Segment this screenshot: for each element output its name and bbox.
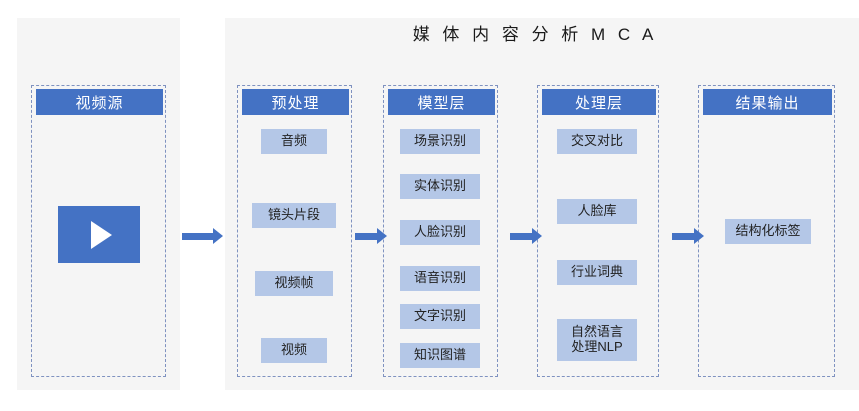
- diagram-canvas: 媒 体 内 容 分 析 M C A 视频源 预处理 音频 镜头片段 视频帧 视频…: [0, 0, 859, 411]
- node-processing-nlp[interactable]: 自然语言 处理NLP: [557, 319, 637, 361]
- node-preprocessing-audio[interactable]: 音频: [261, 129, 327, 154]
- arrow-source-to-preprocessing: [182, 228, 223, 244]
- column-header-model-layer: 模型层: [388, 89, 495, 115]
- arrow-shaft: [510, 233, 532, 240]
- column-video-source: 视频源: [31, 85, 166, 377]
- node-preprocessing-video-frame[interactable]: 视频帧: [255, 271, 333, 296]
- node-model-face-recognition[interactable]: 人脸识别: [400, 220, 480, 245]
- node-processing-cross-comparison[interactable]: 交叉对比: [557, 129, 637, 154]
- column-header-video-source: 视频源: [36, 89, 163, 115]
- arrow-head: [532, 228, 542, 244]
- node-processing-face-database[interactable]: 人脸库: [557, 199, 637, 224]
- column-header-preprocessing: 预处理: [242, 89, 349, 115]
- arrow-head: [213, 228, 223, 244]
- node-model-scene-recognition[interactable]: 场景识别: [400, 129, 480, 154]
- arrow-shaft: [355, 233, 377, 240]
- node-model-speech-recognition[interactable]: 语音识别: [400, 266, 480, 291]
- node-result-structured-tags[interactable]: 结构化标签: [725, 219, 811, 244]
- column-model-layer: 模型层 场景识别 实体识别 人脸识别 语音识别 文字识别 知识图谱: [383, 85, 498, 377]
- arrow-shaft: [672, 233, 694, 240]
- node-model-text-recognition[interactable]: 文字识别: [400, 304, 480, 329]
- node-model-knowledge-graph[interactable]: 知识图谱: [400, 343, 480, 368]
- column-header-processing-layer: 处理层: [542, 89, 656, 115]
- arrow-processing-to-result: [672, 228, 704, 244]
- column-processing-layer: 处理层 交叉对比 人脸库 行业词典 自然语言 处理NLP: [537, 85, 659, 377]
- arrow-head: [694, 228, 704, 244]
- arrow-preprocessing-to-model: [355, 228, 387, 244]
- arrow-head: [377, 228, 387, 244]
- column-header-result-output: 结果输出: [703, 89, 832, 115]
- node-model-entity-recognition[interactable]: 实体识别: [400, 174, 480, 199]
- column-result-output: 结果输出 结构化标签: [698, 85, 835, 377]
- node-processing-industry-dictionary[interactable]: 行业词典: [557, 260, 637, 285]
- column-preprocessing: 预处理 音频 镜头片段 视频帧 视频: [237, 85, 352, 377]
- arrow-shaft: [182, 233, 213, 240]
- diagram-title: 媒 体 内 容 分 析 M C A: [225, 20, 845, 45]
- play-icon: [91, 221, 112, 249]
- video-thumbnail[interactable]: [58, 206, 140, 263]
- node-preprocessing-video[interactable]: 视频: [261, 338, 327, 363]
- node-preprocessing-shot-segment[interactable]: 镜头片段: [252, 203, 336, 228]
- arrow-model-to-processing: [510, 228, 542, 244]
